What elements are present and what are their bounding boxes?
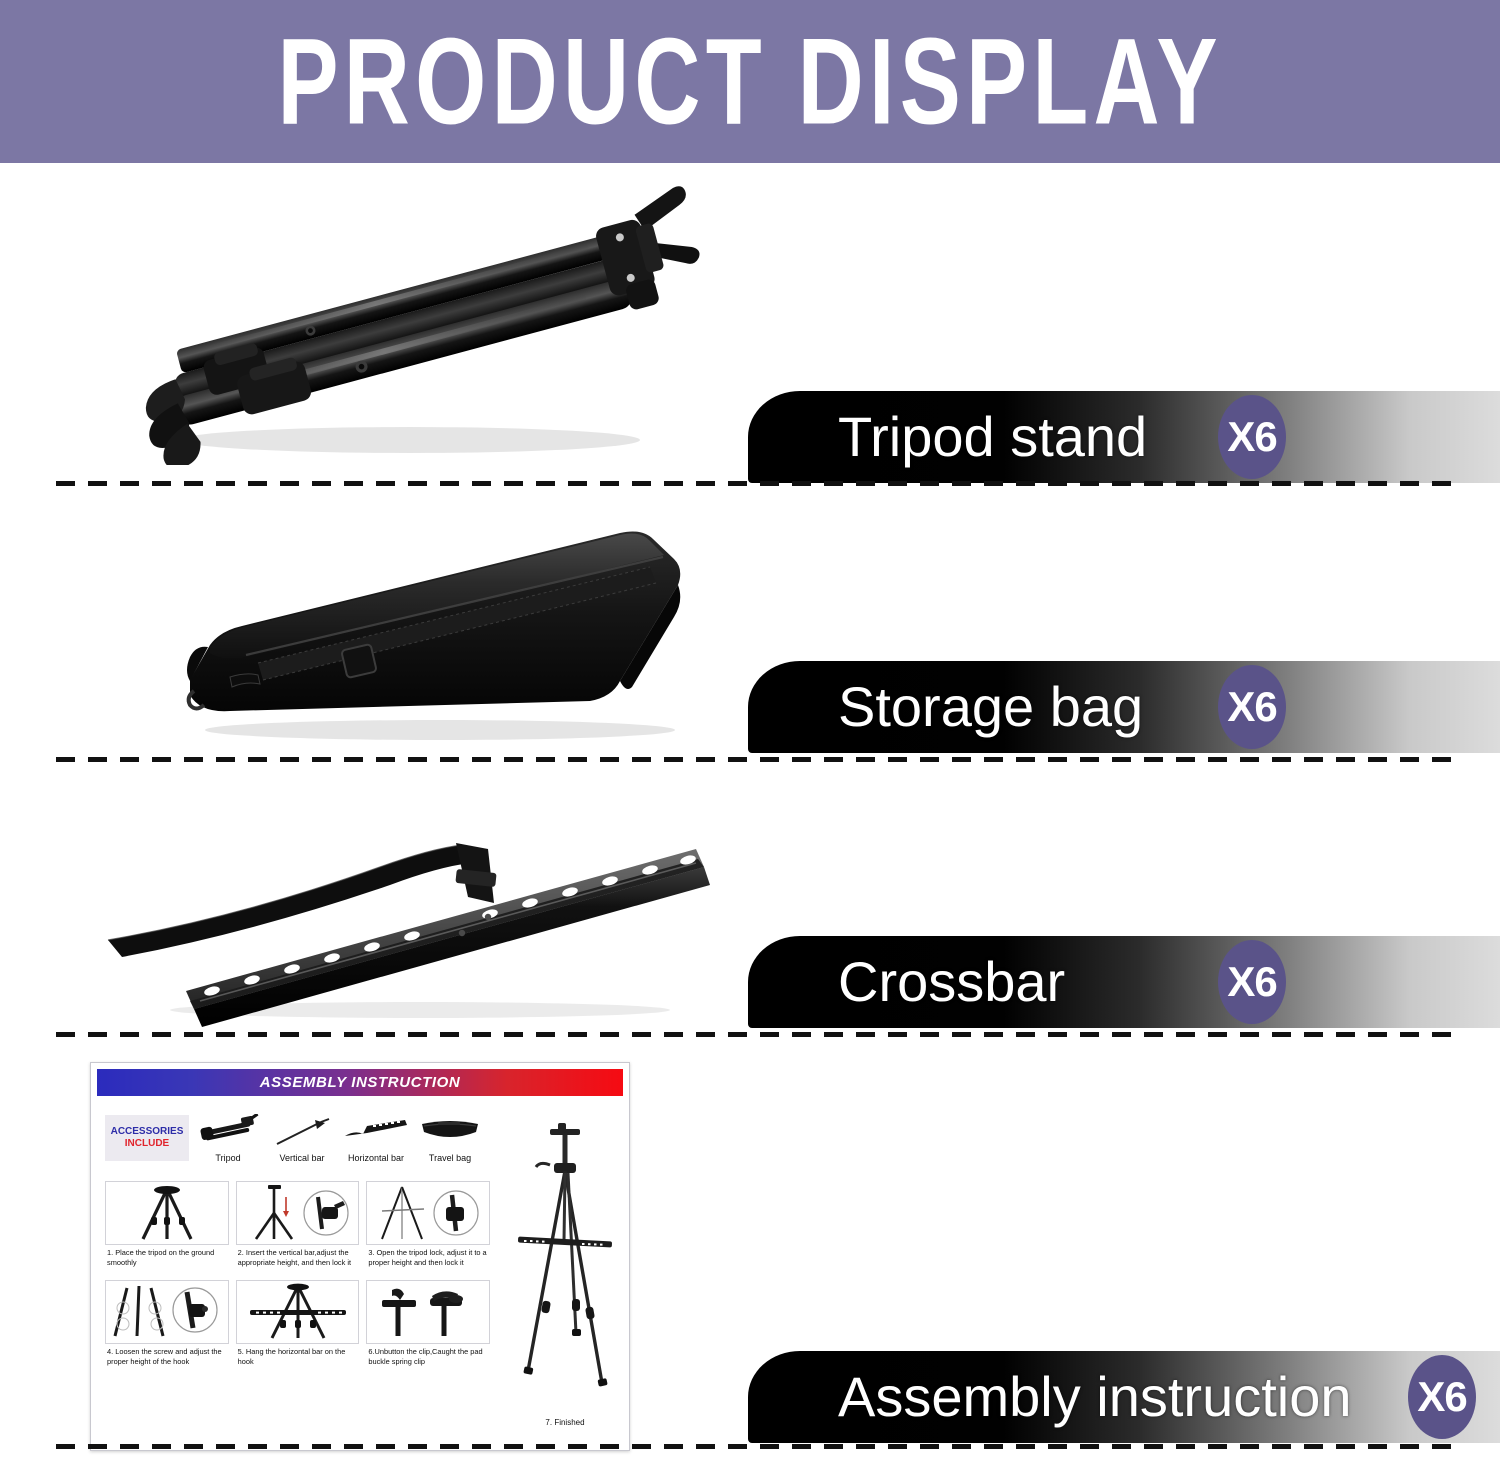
instruction-step-6: 6.Unbutton the clip,Caught the pad buckl… xyxy=(366,1280,490,1379)
instruction-step-3-image xyxy=(366,1181,490,1245)
quantity-badge-tripod-stand: X6 xyxy=(1218,395,1286,479)
label-text-assembly-instruction: Assembly instruction xyxy=(838,1369,1352,1425)
page-title: PRODUCT DISPLAY xyxy=(277,20,1222,143)
finished-easel-illustration: 7. Finished xyxy=(506,1121,624,1441)
instruction-steps-grid: 1. Place the tripod on the ground smooth… xyxy=(105,1181,497,1379)
assembly-instruction-sheet: ASSEMBLY INSTRUCTION ACCESSORIES INCLUDE xyxy=(90,1062,630,1451)
label-text-storage-bag: Storage bag xyxy=(838,679,1143,735)
accessories-row: ACCESSORIES INCLUDE Tripod xyxy=(105,1111,485,1173)
instruction-step-5-image xyxy=(236,1280,360,1344)
accessory-item-vertical-bar: Vertical bar xyxy=(267,1111,337,1163)
divider-dashed-4 xyxy=(56,1444,1461,1449)
divider-dashed-1 xyxy=(56,481,1461,486)
instruction-step-3-caption: 3. Open the tripod lock, adjust it to a … xyxy=(366,1248,490,1280)
instruction-step-2-image xyxy=(236,1181,360,1245)
divider-dashed-2 xyxy=(56,757,1461,762)
accessory-caption-tripod: Tripod xyxy=(215,1153,240,1163)
accessory-item-tripod: Tripod xyxy=(193,1111,263,1163)
accessory-caption-horizontal-bar: Horizontal bar xyxy=(348,1153,404,1163)
quantity-badge-assembly-instruction: X6 xyxy=(1408,1355,1476,1439)
instruction-step-6-caption: 6.Unbutton the clip,Caught the pad buckl… xyxy=(366,1347,490,1379)
accessory-item-horizontal-bar: Horizontal bar xyxy=(341,1111,411,1163)
instruction-step-5: 5. Hang the horizontal bar on the hook xyxy=(236,1280,360,1379)
label-text-tripod-stand: Tripod stand xyxy=(838,409,1147,465)
instruction-step-1-image xyxy=(105,1181,229,1245)
instruction-step-4-caption: 4. Loosen the screw and adjust the prope… xyxy=(105,1347,229,1379)
vertical-bar-icon xyxy=(271,1111,333,1151)
label-bar-tripod-stand: Tripod stand X6 xyxy=(748,391,1500,483)
accessories-include-label: ACCESSORIES INCLUDE xyxy=(105,1115,189,1161)
quantity-badge-storage-bag: X6 xyxy=(1218,665,1286,749)
finished-caption: 7. Finished xyxy=(506,1418,624,1427)
label-bar-assembly-instruction: Assembly instruction X6 xyxy=(748,1351,1500,1443)
instruction-step-1: 1. Place the tripod on the ground smooth… xyxy=(105,1181,229,1280)
instruction-step-2-caption: 2. Insert the vertical bar,adjust the ap… xyxy=(236,1248,360,1280)
tripod-stand-svg xyxy=(110,185,730,465)
instruction-step-1-caption: 1. Place the tripod on the ground smooth… xyxy=(105,1248,229,1280)
tripod-stand-image xyxy=(110,185,730,465)
travel-bag-icon xyxy=(418,1111,482,1151)
instruction-step-4: 4. Loosen the screw and adjust the prope… xyxy=(105,1280,229,1379)
finished-easel-svg xyxy=(506,1121,624,1421)
instruction-sheet-title: ASSEMBLY INSTRUCTION xyxy=(260,1074,461,1091)
label-bar-storage-bag: Storage bag X6 xyxy=(748,661,1500,753)
instruction-step-5-caption: 5. Hang the horizontal bar on the hook xyxy=(236,1347,360,1379)
instruction-step-3: 3. Open the tripod lock, adjust it to a … xyxy=(366,1181,490,1280)
label-text-crossbar: Crossbar xyxy=(838,954,1065,1010)
instruction-step-6-image xyxy=(366,1280,490,1344)
crossbar-image xyxy=(90,805,730,1030)
storage-bag-image xyxy=(150,505,720,750)
tripod-icon xyxy=(197,1111,259,1151)
accessory-item-travel-bag: Travel bag xyxy=(415,1111,485,1163)
instruction-step-2: 2. Insert the vertical bar,adjust the ap… xyxy=(236,1181,360,1280)
horizontal-bar-icon xyxy=(341,1111,411,1151)
instruction-steps-row-1: 1. Place the tripod on the ground smooth… xyxy=(105,1181,497,1280)
accessories-label-line2: INCLUDE xyxy=(125,1138,169,1151)
label-bar-crossbar: Crossbar X6 xyxy=(748,936,1500,1028)
accessory-caption-travel-bag: Travel bag xyxy=(429,1153,471,1163)
quantity-badge-crossbar: X6 xyxy=(1218,940,1286,1024)
crossbar-svg xyxy=(90,805,730,1030)
page-header-banner: PRODUCT DISPLAY xyxy=(0,0,1500,163)
accessories-label-line1: ACCESSORIES xyxy=(111,1126,184,1139)
divider-dashed-3 xyxy=(56,1032,1461,1037)
instruction-step-4-image xyxy=(105,1280,229,1344)
accessory-caption-vertical-bar: Vertical bar xyxy=(279,1153,324,1163)
instruction-steps-row-2: 4. Loosen the screw and adjust the prope… xyxy=(105,1280,497,1379)
instruction-sheet-header: ASSEMBLY INSTRUCTION xyxy=(97,1069,623,1096)
storage-bag-svg xyxy=(150,505,720,750)
